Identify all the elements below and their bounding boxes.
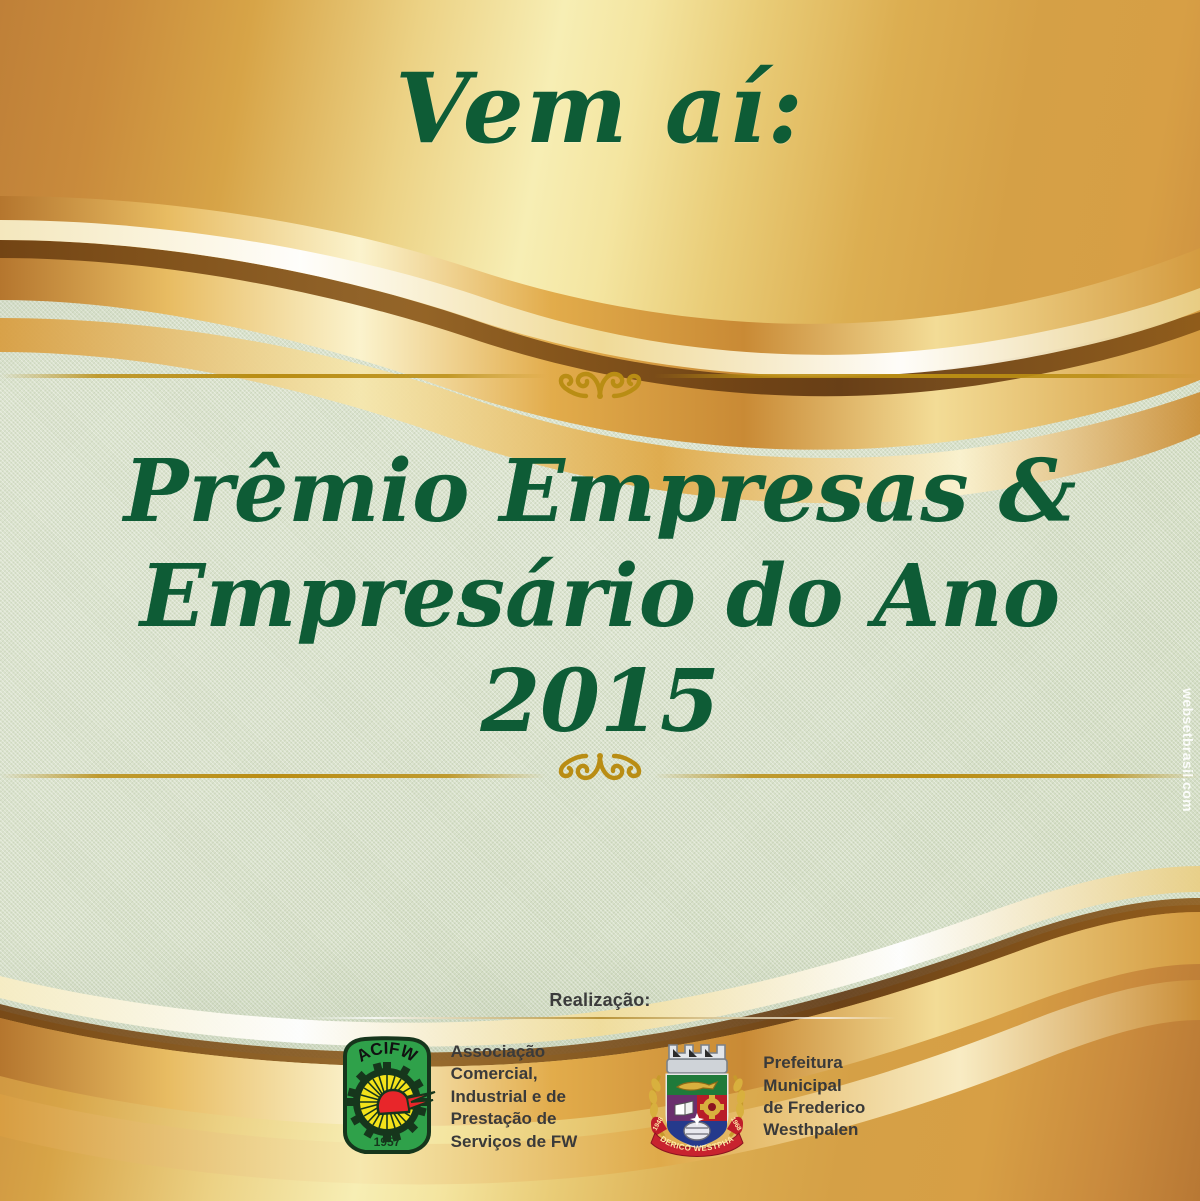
ornament-rule-right [654, 374, 1200, 378]
gold-filigree-up-icon [546, 352, 654, 400]
page-title: Prêmio Empresas & Empresário do Ano 2015 [40, 440, 1160, 755]
sponsor-logos: ACIFW [0, 1035, 1200, 1159]
credit-watermark: websetbrasil.com [1180, 688, 1196, 812]
footer-divider [304, 1017, 896, 1019]
page-header-text: Vem aí: [0, 52, 1200, 165]
prefeitura-name-text: Prefeitura Municipal de Frederico Westhp… [763, 1052, 865, 1142]
ornament-rule-left [0, 374, 546, 378]
title-line-1: Prêmio Empresas & [124, 441, 1077, 542]
ornament-bottom [0, 752, 1200, 800]
title-line-2: Empresário do Ano 2015 [40, 545, 1160, 755]
ornament-top [0, 352, 1200, 400]
poster-canvas: Vem aí: Prêmio Empresas & Empresário do … [0, 0, 1200, 1201]
gold-filigree-down-icon [546, 752, 654, 800]
acifw-logo-icon: ACIFW [335, 1036, 439, 1158]
realizacao-label: Realização: [0, 990, 1200, 1011]
acifw-founded-year: 1957 [373, 1135, 400, 1149]
coat-of-arms-icon: FREDERICO WESTPHALEN 1948 1968 [643, 1035, 751, 1159]
ornament-rule-right-bottom [654, 774, 1200, 778]
sponsor-prefeitura: FREDERICO WESTPHALEN 1948 1968 Prefeitur… [643, 1035, 865, 1159]
ornament-rule-left-bottom [0, 774, 546, 778]
footer: Realização: ACIFW [0, 990, 1200, 1159]
sponsor-acifw: ACIFW [335, 1036, 578, 1158]
acifw-name-text: Associação Comercial, Industrial e de Pr… [451, 1041, 578, 1153]
